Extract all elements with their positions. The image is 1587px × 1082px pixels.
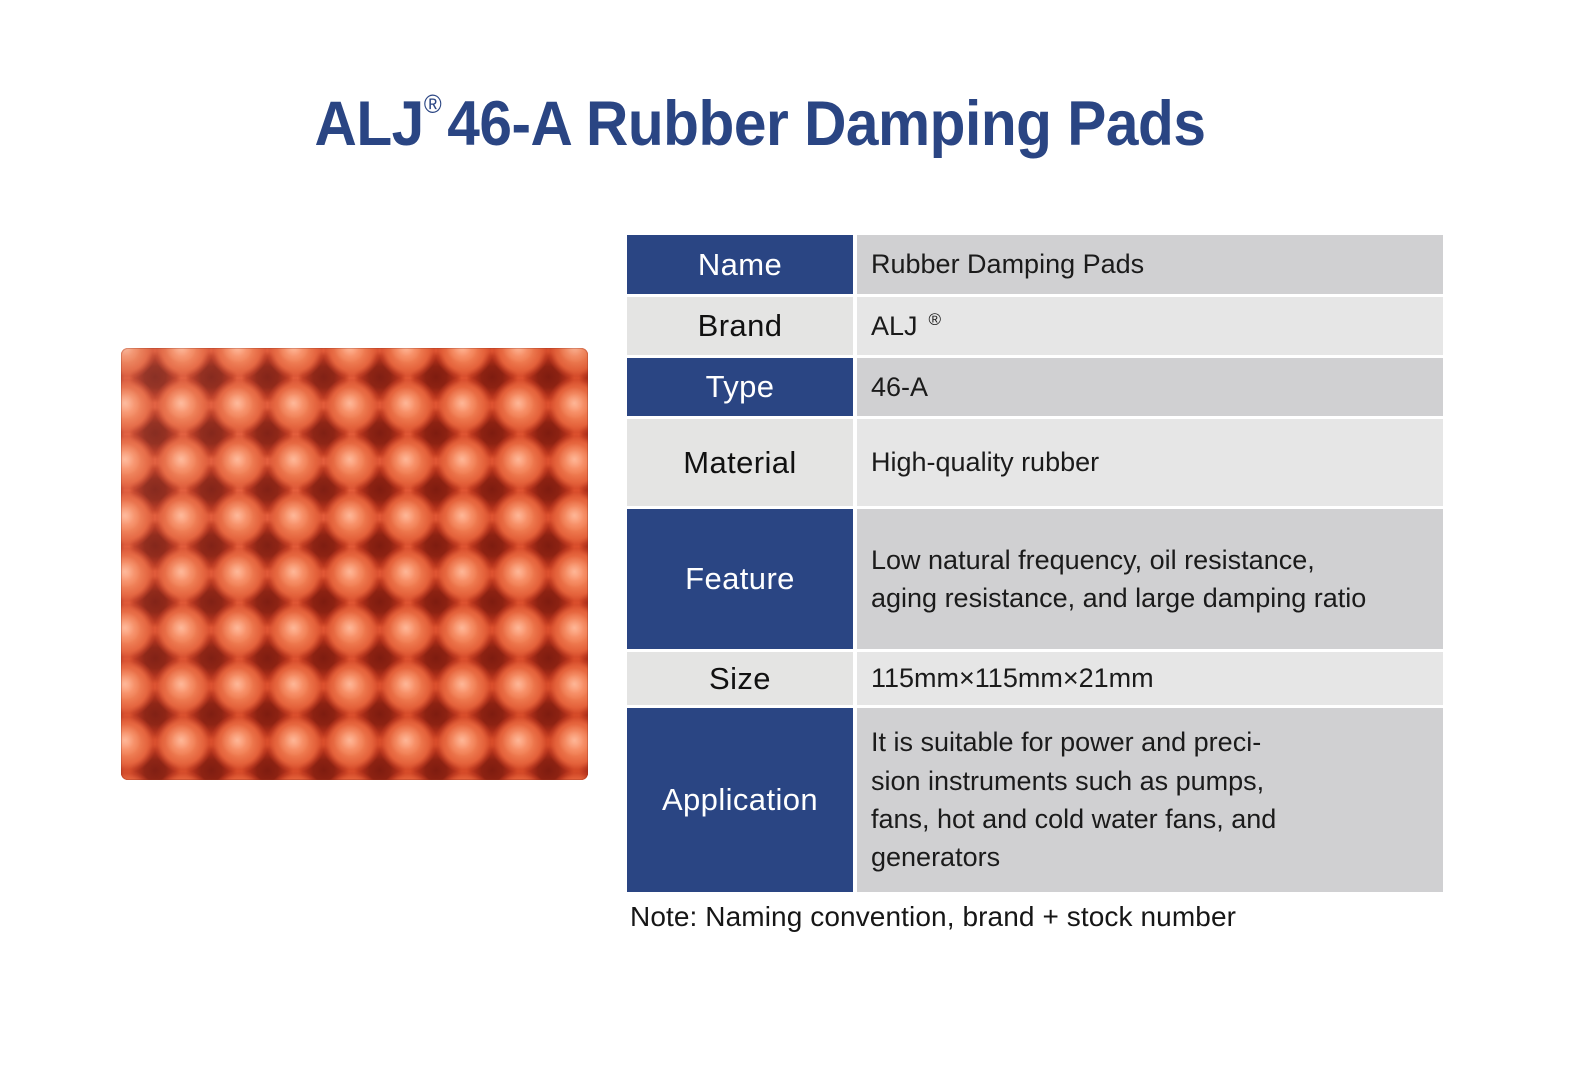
- spec-label-application: Application: [627, 708, 853, 892]
- spec-value-material: High-quality rubber: [857, 419, 1443, 506]
- spec-label-name: Name: [627, 235, 853, 294]
- spec-label-brand: Brand: [627, 297, 853, 355]
- spec-value-brand-text: ALJ: [871, 307, 918, 345]
- spec-value-application-text: It is suitable for power and preci- sion…: [871, 723, 1276, 876]
- table-row-feature: Feature Low natural frequency, oil resis…: [627, 509, 1443, 649]
- spec-value-type: 46-A: [857, 358, 1443, 416]
- page-title-model: 46-A Rubber Damping Pads: [447, 89, 1205, 159]
- spec-label-material: Material: [627, 419, 853, 506]
- table-row-type: Type 46-A: [627, 358, 1443, 416]
- table-row-size: Size 115mm×115mm×21mm: [627, 652, 1443, 705]
- page-title: ALJ®46-A Rubber Damping Pads: [53, 88, 1467, 160]
- table-row-application: Application It is suitable for power and…: [627, 708, 1443, 892]
- spec-value-brand: ALJ®: [857, 297, 1443, 355]
- product-image: [121, 348, 588, 780]
- spec-label-size: Size: [627, 652, 853, 705]
- spec-value-size: 115mm×115mm×21mm: [857, 652, 1443, 705]
- spec-value-application: It is suitable for power and preci- sion…: [857, 708, 1443, 892]
- table-row-name: Name Rubber Damping Pads: [627, 235, 1443, 294]
- spec-value-feature: Low natural frequency, oil resistance, a…: [857, 509, 1443, 649]
- specification-table: Name Rubber Damping Pads Brand ALJ® Type…: [627, 235, 1443, 895]
- spec-label-feature: Feature: [627, 509, 853, 649]
- brand-registered-trademark-icon: ®: [929, 308, 942, 332]
- table-row-brand: Brand ALJ®: [627, 297, 1443, 355]
- spec-label-type: Type: [627, 358, 853, 416]
- table-note: Note: Naming convention, brand + stock n…: [630, 901, 1236, 933]
- spec-value-feature-text: Low natural frequency, oil resistance, a…: [871, 541, 1366, 618]
- pad-edge-layer: [121, 348, 588, 780]
- rubber-pad-graphic: [121, 348, 588, 780]
- page-title-brand: ALJ: [315, 89, 424, 159]
- spec-value-name: Rubber Damping Pads: [857, 235, 1443, 294]
- table-row-material: Material High-quality rubber: [627, 419, 1443, 506]
- product-spec-page: ALJ®46-A Rubber Damping Pads Name Rubber…: [0, 0, 1587, 1082]
- registered-trademark-icon: ®: [424, 89, 442, 119]
